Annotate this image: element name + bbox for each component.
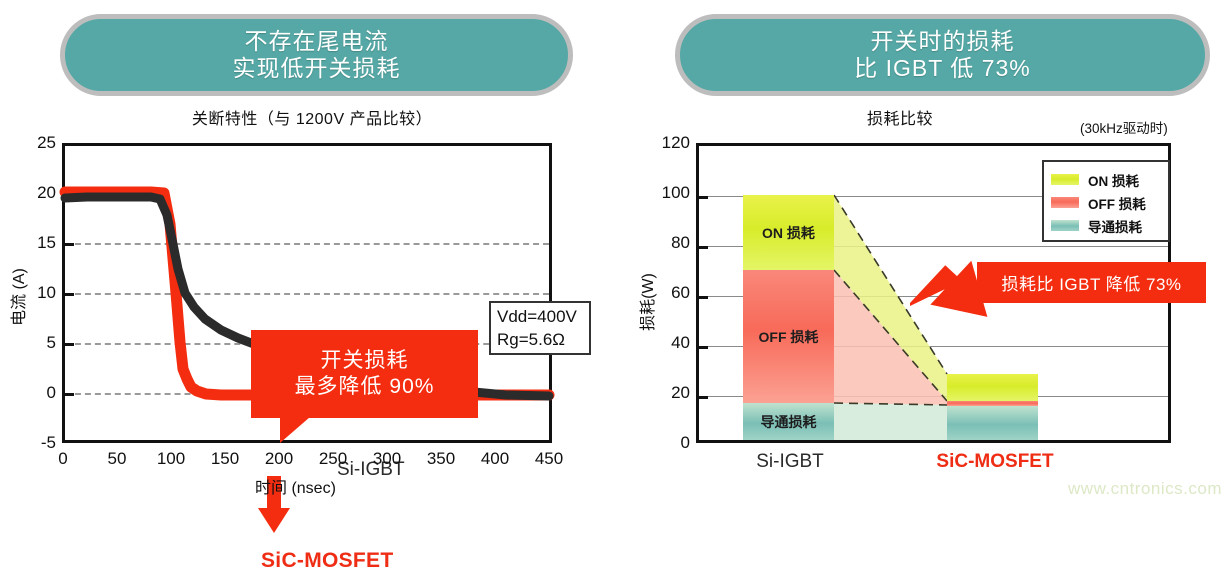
- left-panel: 不存在尾电流 实现低开关损耗 关断特性（与 1200V 产品比较） 25 20 …: [0, 0, 615, 503]
- left-chart-subtitle: 关断特性（与 1200V 产品比较）: [62, 105, 562, 129]
- right-ytick-60: 60: [671, 283, 690, 303]
- left-ytick-10: 10: [37, 283, 56, 303]
- left-headline-line1: 不存在尾电流: [233, 28, 401, 55]
- left-series-label-sic: SiC-MOSFET: [261, 549, 394, 573]
- legend-label-off: OFF 损耗: [1088, 193, 1146, 213]
- left-xtick-450: 450: [535, 449, 563, 469]
- left-xtick-200: 200: [265, 449, 293, 469]
- left-ytick-25: 25: [37, 133, 56, 153]
- bar-si-igbt-segment-on: ON 损耗: [743, 195, 834, 270]
- right-headline-line1: 开关时的损耗: [854, 28, 1030, 55]
- legend-swatch-cond-icon: [1051, 220, 1079, 231]
- legend-item-cond: 导通损耗: [1051, 214, 1168, 237]
- left-y-axis-title: 电流 (A): [5, 268, 29, 326]
- bar-sic-mosfet-segment-on: [947, 374, 1038, 401]
- left-x-axis-title: 时间 (nsec): [255, 474, 336, 498]
- left-x-axis-ticks: 0 50 100 150 200 250 300 350 400 450: [0, 449, 615, 473]
- left-callout-line1: 开关损耗: [321, 348, 409, 374]
- bar-si-igbt-segment-cond: 导通损耗: [743, 403, 834, 440]
- left-condition-box: Vdd=400V Rg=5.6Ω: [489, 301, 591, 355]
- left-ytick-15: 15: [37, 233, 56, 253]
- left-ytick-5: 5: [47, 333, 56, 353]
- legend-label-cond: 导通损耗: [1088, 216, 1142, 236]
- right-y-axis-title: 损耗(W): [634, 273, 658, 331]
- right-ytick-80: 80: [671, 233, 690, 253]
- left-xtick-250: 250: [319, 449, 347, 469]
- bar-si-igbt: ON 损耗 OFF 损耗 导通损耗: [743, 195, 834, 440]
- xcat-sic-mosfet: SiC-MOSFET: [936, 451, 1053, 473]
- left-headline-line2: 实现低开关损耗: [233, 55, 401, 82]
- bar-si-igbt-label-off: OFF 损耗: [743, 327, 834, 347]
- right-ytick-100: 100: [662, 183, 690, 203]
- left-xtick-300: 300: [373, 449, 401, 469]
- right-chart-subtitle: 损耗比较: [700, 105, 1100, 129]
- left-xtick-0: 0: [58, 449, 67, 469]
- bar-sic-mosfet-segment-cond: [947, 406, 1038, 440]
- legend-label-on: ON 损耗: [1088, 170, 1139, 190]
- left-ytick-0: 0: [47, 383, 56, 403]
- left-callout-line2: 最多降低 90%: [295, 374, 435, 400]
- right-ytick-20: 20: [671, 383, 690, 403]
- right-legend: ON 损耗 OFF 损耗 导通损耗: [1042, 160, 1170, 242]
- right-condition-note: (30kHz驱动时): [1080, 117, 1168, 137]
- right-headline-line2: 比 IGBT 低 73%: [854, 55, 1030, 82]
- legend-swatch-on-icon: [1051, 174, 1079, 185]
- bar-si-igbt-label-cond: 导通损耗: [743, 412, 834, 432]
- left-xtick-400: 400: [481, 449, 509, 469]
- left-callout-box: 开关损耗 最多降低 90%: [251, 330, 478, 418]
- watermark: www.cntronics.com: [1068, 479, 1222, 499]
- right-x-axis-labels: Si-IGBT SiC-MOSFET: [615, 449, 1230, 473]
- left-condition-vdd: Vdd=400V: [497, 306, 589, 329]
- left-xtick-50: 50: [108, 449, 127, 469]
- left-callout-tail: [280, 417, 310, 443]
- bar-sic-mosfet: [947, 374, 1038, 440]
- bar-si-igbt-segment-off: OFF 损耗: [743, 270, 834, 403]
- left-xtick-100: 100: [157, 449, 185, 469]
- left-condition-rg: Rg=5.6Ω: [497, 329, 589, 352]
- xcat-si-igbt: Si-IGBT: [756, 451, 824, 473]
- left-ytick-20: 20: [37, 183, 56, 203]
- right-headline-pill: 开关时的损耗 比 IGBT 低 73%: [675, 14, 1210, 96]
- left-xtick-150: 150: [211, 449, 239, 469]
- right-ytick-40: 40: [671, 333, 690, 353]
- left-xtick-350: 350: [427, 449, 455, 469]
- bar-si-igbt-label-on: ON 损耗: [743, 223, 834, 243]
- right-ytick-120: 120: [662, 133, 690, 153]
- left-headline-pill: 不存在尾电流 实现低开关损耗: [60, 14, 573, 96]
- right-callout-box: 损耗比 IGBT 降低 73%: [977, 262, 1206, 303]
- left-plot-area: Si-IGBT SiC-MOSFET 开关损耗 最多降低 90% Vdd=400…: [62, 143, 552, 443]
- legend-item-on: ON 损耗: [1051, 168, 1168, 191]
- legend-item-off: OFF 损耗: [1051, 191, 1168, 214]
- legend-swatch-off-icon: [1051, 197, 1079, 208]
